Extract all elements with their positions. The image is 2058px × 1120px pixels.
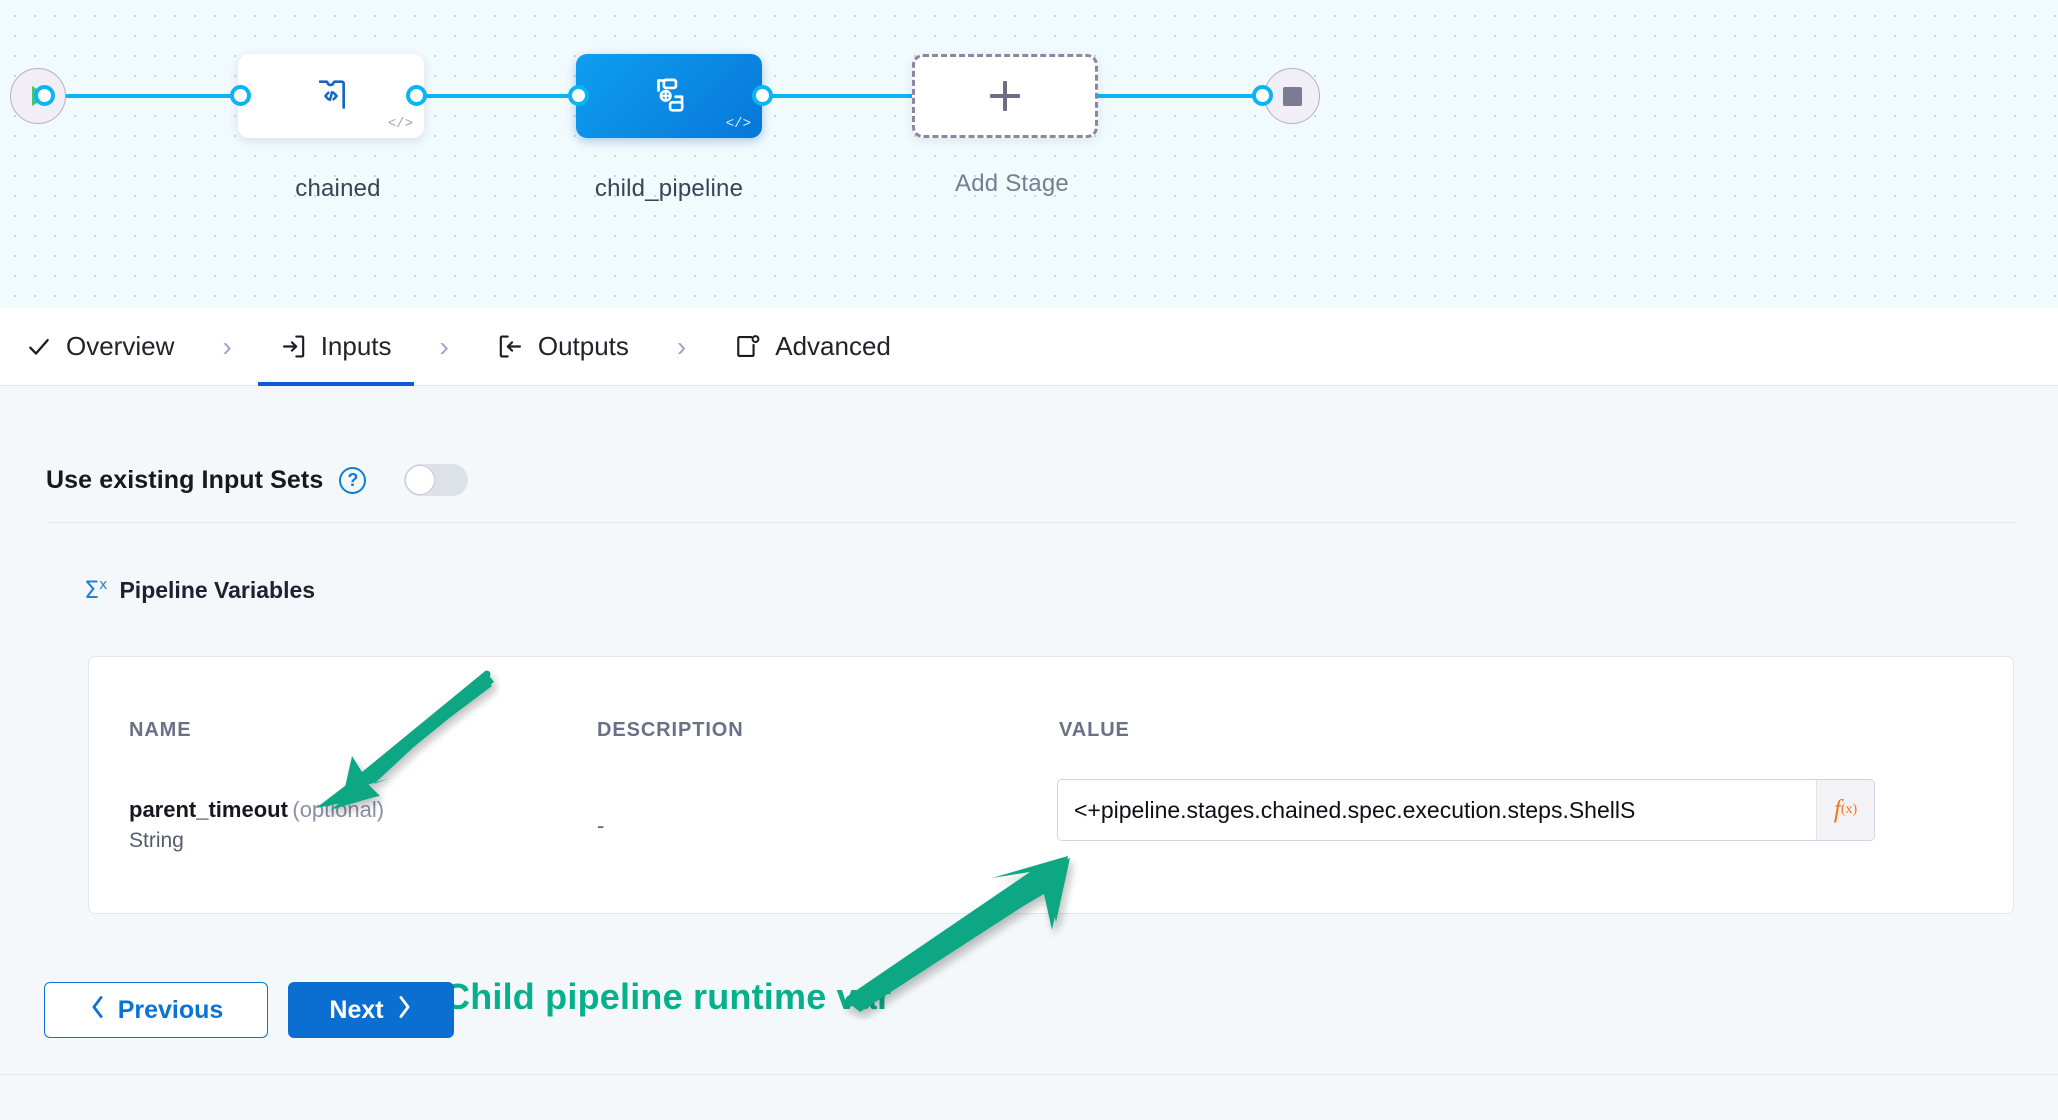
connector-dot-end[interactable] xyxy=(1252,85,1273,106)
custom-stage-icon xyxy=(309,74,353,118)
add-stage-label: Add Stage xyxy=(862,170,1162,198)
previous-button[interactable]: Previous xyxy=(44,982,268,1038)
section-divider xyxy=(46,522,2016,523)
tab-separator: › xyxy=(196,331,257,363)
variable-name: parent_timeout xyxy=(129,797,288,822)
connector-start-to-chained xyxy=(44,94,244,98)
tab-overview-label: Overview xyxy=(66,331,174,362)
chevron-right-icon xyxy=(396,995,413,1026)
tab-inputs[interactable]: Inputs xyxy=(258,308,414,386)
tab-advanced-label: Advanced xyxy=(775,331,891,362)
variable-optional-tag: (optional) xyxy=(292,797,384,822)
next-button[interactable]: Next xyxy=(288,982,454,1038)
fx-label: f xyxy=(1834,796,1841,824)
outputs-arrow-icon xyxy=(497,333,524,360)
stage-code-badge: </> xyxy=(388,116,413,132)
tab-outputs-label: Outputs xyxy=(538,331,629,362)
annotation-child-pipeline-runtime-var: Child pipeline runtime var xyxy=(444,976,891,1018)
variable-value-field[interactable]: f(x) xyxy=(1057,779,1875,841)
connector-dot-chained-in[interactable] xyxy=(230,85,251,106)
connector-dot-child-out[interactable] xyxy=(752,85,773,106)
stage-label-child-pipeline: child_pipeline xyxy=(519,175,819,203)
stage-label-chained: chained xyxy=(188,175,488,203)
tab-advanced[interactable]: Advanced xyxy=(712,308,913,386)
column-header-description: DESCRIPTION xyxy=(597,719,744,742)
column-header-name: NAME xyxy=(129,719,192,742)
tab-overview[interactable]: Overview xyxy=(4,308,196,386)
use-existing-input-sets-label: Use existing Input Sets xyxy=(46,466,323,495)
inputs-arrow-icon xyxy=(280,333,307,360)
stage-code-badge: </> xyxy=(726,116,751,132)
toggle-knob xyxy=(405,465,435,495)
next-button-label: Next xyxy=(329,996,383,1025)
variable-name-cell: parent_timeout (optional) String xyxy=(129,797,384,853)
stage-config-tabbar: Overview › Inputs › Outputs › xyxy=(0,308,2058,386)
pipeline-variables-heading: Σx Pipeline Variables xyxy=(84,576,315,604)
tab-separator: › xyxy=(651,331,712,363)
inputs-panel: Use existing Input Sets ? Σx Pipeline Va… xyxy=(0,386,2058,1120)
pipeline-canvas[interactable]: </> chained </> child_pipeline Add Stage xyxy=(0,0,2058,308)
plus-icon xyxy=(988,79,1022,113)
variable-value-input[interactable] xyxy=(1058,780,1816,840)
pipeline-graph: </> chained </> child_pipeline Add Stage xyxy=(0,0,2058,308)
stop-icon xyxy=(1283,87,1302,106)
variable-description: - xyxy=(597,813,604,839)
connector-dot-chained-out[interactable] xyxy=(406,85,427,106)
help-icon[interactable]: ? xyxy=(339,467,366,494)
use-existing-input-sets-row: Use existing Input Sets ? xyxy=(46,464,468,496)
advanced-gear-icon xyxy=(734,333,761,360)
connector-dot-child-in[interactable] xyxy=(568,85,589,106)
pipeline-variables-table: NAME DESCRIPTION VALUE parent_timeout (o… xyxy=(88,656,2014,914)
column-header-value: VALUE xyxy=(1059,719,1130,742)
use-existing-input-sets-toggle[interactable] xyxy=(404,464,468,496)
chevron-left-icon xyxy=(89,995,106,1026)
variable-type: String xyxy=(129,829,384,853)
connector-chained-to-child xyxy=(404,94,576,98)
wizard-footer-buttons: Previous Next xyxy=(44,982,454,1038)
add-stage-node[interactable] xyxy=(912,54,1098,138)
sigma-x-icon: Σx xyxy=(84,576,107,604)
table-header-row: NAME DESCRIPTION VALUE xyxy=(89,719,2013,749)
footer-divider xyxy=(0,1074,2058,1075)
tab-separator: › xyxy=(414,331,475,363)
connector-dot-start[interactable] xyxy=(34,85,55,106)
fx-sub: (x) xyxy=(1841,802,1857,818)
expression-fx-button[interactable]: f(x) xyxy=(1816,780,1874,840)
pipeline-variables-title: Pipeline Variables xyxy=(119,577,315,604)
previous-button-label: Previous xyxy=(118,996,224,1025)
stage-node-chained[interactable]: </> xyxy=(238,54,424,138)
pipeline-stage-icon xyxy=(647,74,691,118)
stage-node-child-pipeline[interactable]: </> xyxy=(576,54,762,138)
check-icon xyxy=(26,334,52,360)
tab-inputs-label: Inputs xyxy=(321,331,392,362)
tab-outputs[interactable]: Outputs xyxy=(475,308,651,386)
